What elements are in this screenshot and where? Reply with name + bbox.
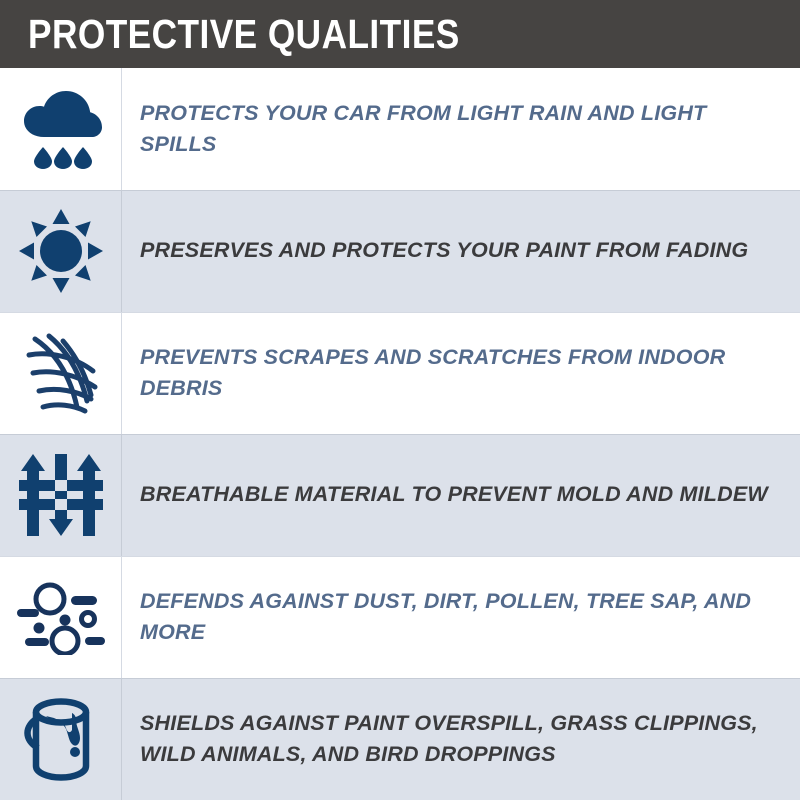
text-cell: DEFENDS AGAINST DUST, DIRT, POLLEN, TREE… (122, 556, 800, 678)
dust-particles-icon (17, 579, 105, 655)
feature-list: PROTECTS YOUR CAR FROM LIGHT RAIN AND LI… (0, 68, 800, 800)
text-cell: PRESERVES AND PROTECTS YOUR PAINT FROM F… (122, 190, 800, 312)
icon-cell (0, 312, 122, 434)
protective-qualities-infographic: PROTECTIVE QUALITIES PROTECTS YOUR CAR F… (0, 0, 800, 800)
text-cell: SHIELDS AGAINST PAINT OVERSPILL, GRASS C… (122, 678, 800, 800)
icon-cell (0, 68, 122, 190)
scratch-mesh-icon (19, 329, 103, 417)
text-cell: PROTECTS YOUR CAR FROM LIGHT RAIN AND LI… (122, 68, 800, 190)
feature-text: DEFENDS AGAINST DUST, DIRT, POLLEN, TREE… (140, 586, 774, 648)
feature-row: PREVENTS SCRAPES AND SCRATCHES FROM INDO… (0, 312, 800, 434)
paint-can-icon (18, 696, 104, 782)
icon-cell (0, 190, 122, 312)
feature-text: PREVENTS SCRAPES AND SCRATCHES FROM INDO… (140, 342, 774, 404)
text-cell: BREATHABLE MATERIAL TO PREVENT MOLD AND … (122, 434, 800, 556)
feature-row: SHIELDS AGAINST PAINT OVERSPILL, GRASS C… (0, 678, 800, 800)
icon-cell (0, 678, 122, 800)
feature-text: SHIELDS AGAINST PAINT OVERSPILL, GRASS C… (140, 708, 774, 770)
icon-cell (0, 556, 122, 678)
icon-cell (0, 434, 122, 556)
breathable-airflow-arrows-icon (19, 452, 103, 538)
feature-row: PROTECTS YOUR CAR FROM LIGHT RAIN AND LI… (0, 68, 800, 190)
feature-row: DEFENDS AGAINST DUST, DIRT, POLLEN, TREE… (0, 556, 800, 678)
text-cell: PREVENTS SCRAPES AND SCRATCHES FROM INDO… (122, 312, 800, 434)
header-bar: PROTECTIVE QUALITIES (0, 0, 800, 68)
feature-text: PRESERVES AND PROTECTS YOUR PAINT FROM F… (140, 235, 748, 266)
rain-cloud-icon (18, 89, 104, 169)
feature-row: BREATHABLE MATERIAL TO PREVENT MOLD AND … (0, 434, 800, 556)
feature-text: PROTECTS YOUR CAR FROM LIGHT RAIN AND LI… (140, 98, 774, 160)
sun-icon (19, 209, 103, 293)
feature-row: PRESERVES AND PROTECTS YOUR PAINT FROM F… (0, 190, 800, 312)
page-title: PROTECTIVE QUALITIES (28, 14, 460, 55)
feature-text: BREATHABLE MATERIAL TO PREVENT MOLD AND … (140, 479, 768, 510)
